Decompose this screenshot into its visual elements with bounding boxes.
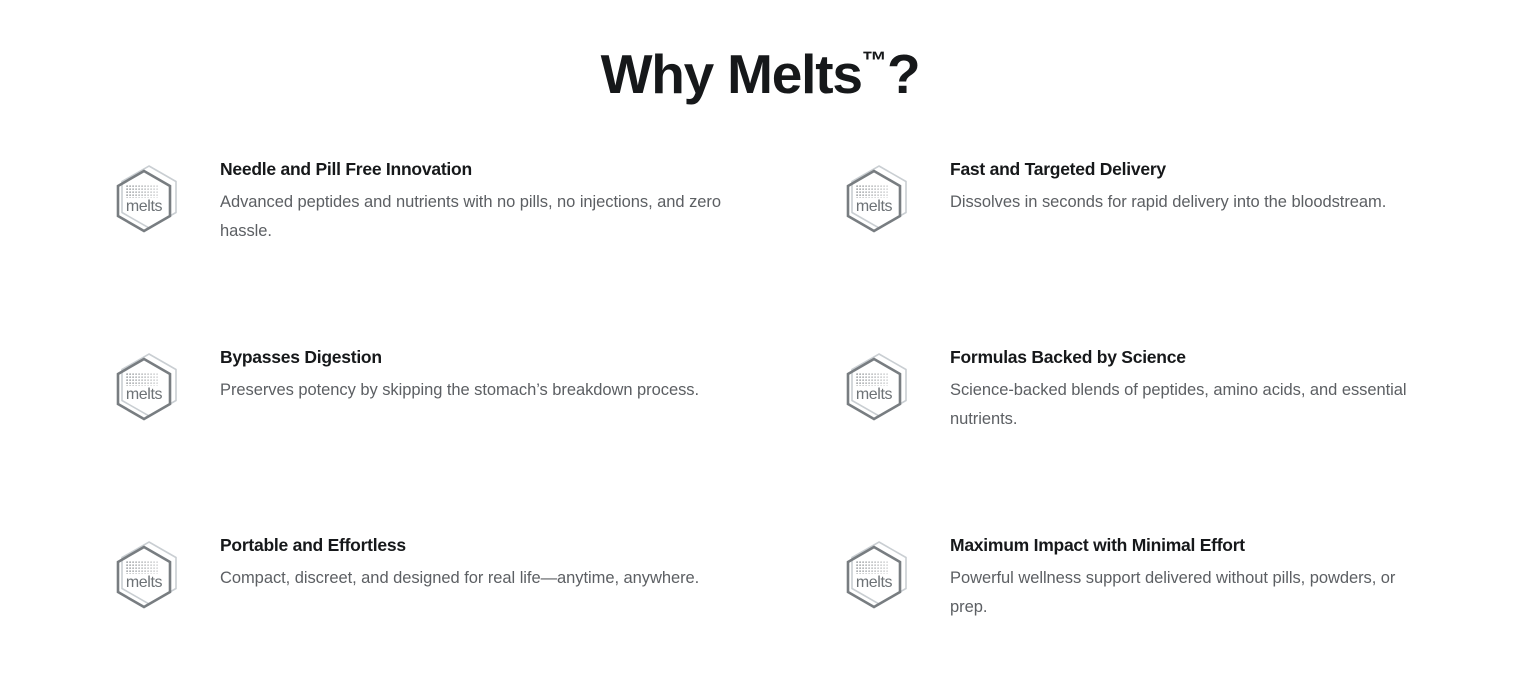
feature-description: Dissolves in seconds for rapid delivery …: [950, 188, 1386, 217]
feature-item: melts Needle and Pill Free Innovation Ad…: [108, 155, 838, 343]
page-title-main: Why Melts: [601, 43, 862, 105]
feature-description: Compact, discreet, and designed for real…: [220, 564, 699, 593]
feature-text: Needle and Pill Free Innovation Advanced…: [220, 155, 765, 246]
feature-item: melts Portable and Effortless Compact, d…: [108, 531, 838, 689]
feature-description: Preserves potency by skipping the stomac…: [220, 376, 699, 405]
feature-grid: melts Needle and Pill Free Innovation Ad…: [0, 155, 1520, 689]
melts-hexagon-logo-icon: melts: [108, 537, 180, 621]
melts-hexagon-logo-icon: melts: [838, 349, 910, 433]
feature-title: Needle and Pill Free Innovation: [220, 158, 765, 181]
feature-description: Advanced peptides and nutrients with no …: [220, 188, 765, 247]
feature-description: Science-backed blends of peptides, amino…: [950, 376, 1420, 435]
trademark-symbol: ™: [862, 47, 887, 75]
svg-text:melts: melts: [126, 574, 163, 591]
feature-title: Fast and Targeted Delivery: [950, 158, 1386, 181]
melts-hexagon-logo-icon: melts: [108, 161, 180, 245]
feature-title: Maximum Impact with Minimal Effort: [950, 534, 1420, 557]
melts-hexagon-logo-icon: melts: [838, 161, 910, 245]
melts-hexagon-logo-icon: melts: [108, 349, 180, 433]
svg-text:melts: melts: [856, 574, 893, 591]
feature-text: Fast and Targeted Delivery Dissolves in …: [950, 155, 1386, 217]
feature-item: melts Bypasses Digestion Preserves poten…: [108, 343, 838, 531]
why-melts-section: Why Melts™?: [0, 0, 1520, 689]
page-title-suffix: ?: [887, 43, 919, 105]
melts-hexagon-logo-icon: melts: [838, 537, 910, 621]
svg-text:melts: melts: [856, 386, 893, 403]
feature-title: Bypasses Digestion: [220, 346, 699, 369]
feature-item: melts Fast and Targeted Delivery Dissolv…: [838, 155, 1520, 343]
svg-text:melts: melts: [856, 198, 893, 215]
feature-title: Formulas Backed by Science: [950, 346, 1420, 369]
feature-text: Maximum Impact with Minimal Effort Power…: [950, 531, 1420, 622]
feature-item: melts Formulas Backed by Science Science…: [838, 343, 1520, 531]
feature-text: Portable and Effortless Compact, discree…: [220, 531, 699, 593]
feature-title: Portable and Effortless: [220, 534, 699, 557]
feature-text: Formulas Backed by Science Science-backe…: [950, 343, 1420, 434]
feature-text: Bypasses Digestion Preserves potency by …: [220, 343, 699, 405]
page-title: Why Melts™?: [0, 42, 1520, 107]
svg-text:melts: melts: [126, 386, 163, 403]
feature-item: melts Maximum Impact with Minimal Effort…: [838, 531, 1520, 689]
feature-description: Powerful wellness support delivered with…: [950, 564, 1420, 623]
svg-text:melts: melts: [126, 198, 163, 215]
